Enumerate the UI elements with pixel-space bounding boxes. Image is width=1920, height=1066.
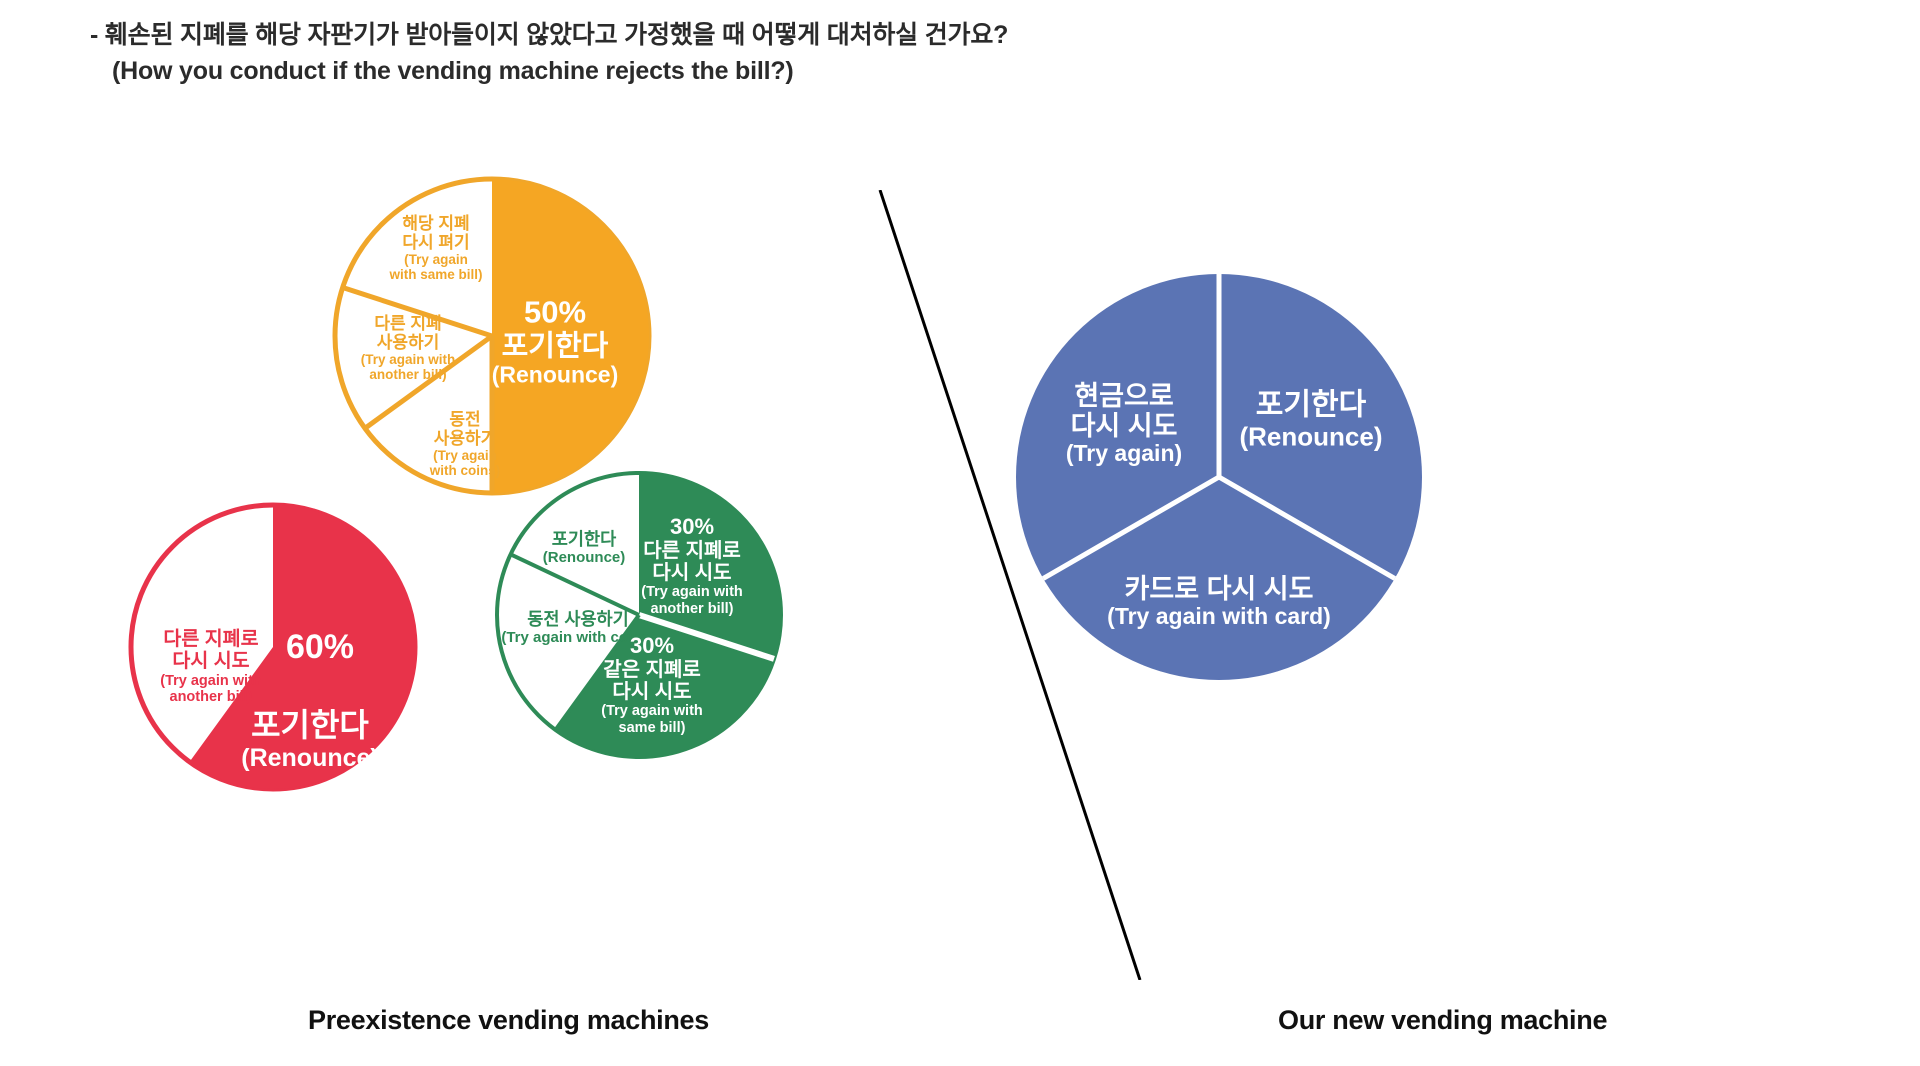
orange-pie-chart: 해당 지폐 다시 펴기 (Try again with same bill) 다…	[332, 176, 652, 496]
caption-new-machine: Our new vending machine	[1278, 1005, 1607, 1036]
blue-pie-chart: 포기한다 (Renounce) 현금으로 다시 시도 (Try again) 카…	[1014, 272, 1424, 682]
question-line-korean: - 훼손된 지폐를 해당 자판기가 받아들이지 않았다고 가정했을 때 어떻게 …	[90, 21, 1008, 49]
green-pie-svg	[494, 470, 784, 760]
slide-canvas: - 훼손된 지폐를 해당 자판기가 받아들이지 않았다고 가정했을 때 어떻게 …	[0, 0, 1920, 1066]
question-line-english: (How you conduct if the vending machine …	[90, 54, 1008, 90]
green-pie-chart: 포기한다 (Renounce) 동전 사용하기 (Try again with …	[494, 470, 784, 760]
blue-pie-svg	[1014, 272, 1424, 682]
red-pie-svg	[128, 502, 418, 792]
orange-slice-renounce	[492, 179, 649, 493]
caption-preexistence: Preexistence vending machines	[308, 1005, 709, 1036]
page-title: - 훼손된 지폐를 해당 자판기가 받아들이지 않았다고 가정했을 때 어떻게 …	[90, 18, 1008, 89]
red-pie-chart: 다른 지폐로 다시 시도 (Try again with another bil…	[128, 502, 418, 792]
orange-pie-svg	[332, 176, 652, 496]
